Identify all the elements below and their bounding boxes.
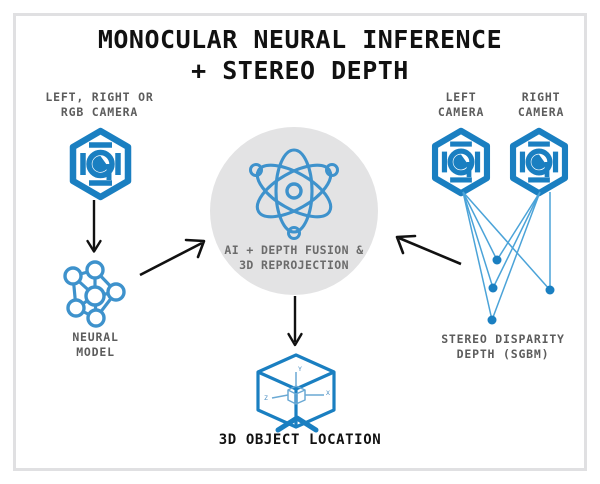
- arrow-up-right-icon: [138, 237, 210, 279]
- arrow-left-icon: [391, 232, 463, 270]
- hexagon-camera-icon: [508, 128, 570, 196]
- axis-label-z: Z: [264, 394, 268, 402]
- left-camera-label-right-branch: LEFT CAMERA: [425, 90, 497, 120]
- arrow-down-icon: [287, 296, 303, 352]
- atom-icon: [246, 143, 342, 239]
- stereo-disparity-label: STEREO DISPARITY DEPTH (SGBM): [418, 332, 588, 362]
- arrow-down-icon: [86, 200, 102, 258]
- axis-label-x: X: [326, 389, 330, 397]
- diagram-canvas: MONOCULAR NEURAL INFERENCE + STEREO DEPT…: [0, 0, 600, 484]
- axis-label-y: Y: [298, 365, 302, 373]
- center-label: AI + DEPTH FUSION & 3D REPROJECTION: [210, 243, 378, 273]
- blue-chevron-icon: [276, 416, 318, 432]
- right-camera-label: RIGHT CAMERA: [505, 90, 577, 120]
- hexagon-camera-icon: [68, 128, 133, 200]
- output-label: 3D OBJECT LOCATION: [0, 432, 600, 448]
- hexagon-camera-icon: [430, 128, 492, 196]
- left-camera-label: LEFT, RIGHT OR RGB CAMERA: [22, 90, 177, 120]
- neural-network-icon: [58, 258, 132, 330]
- page-title: MONOCULAR NEURAL INFERENCE + STEREO DEPT…: [0, 24, 600, 86]
- neural-model-label: NEURAL MODEL: [38, 330, 153, 360]
